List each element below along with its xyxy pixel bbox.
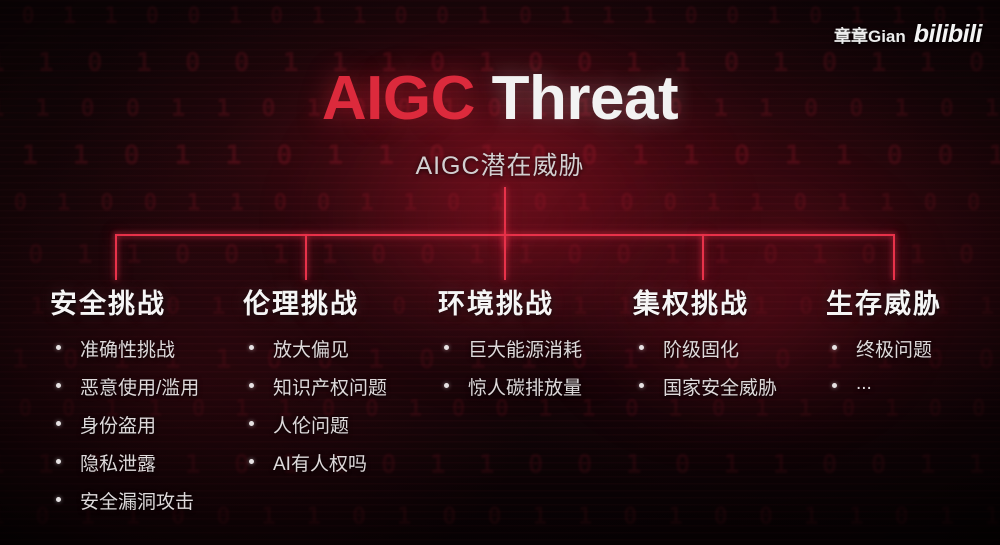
list-item: 准确性挑战 (50, 335, 199, 362)
list-item: 恶意使用/滥用 (50, 373, 199, 400)
list-item: 安全漏洞攻击 (50, 487, 199, 514)
threat-columns: 安全挑战 准确性挑战 恶意使用/滥用 身份盗用 隐私泄露 安全漏洞攻击 伦理挑战… (0, 282, 1000, 522)
connector-stem-vertical (504, 187, 506, 249)
list-item-label: 知识产权问题 (273, 378, 387, 399)
column-item-list: 准确性挑战 恶意使用/滥用 身份盗用 隐私泄露 安全漏洞攻击 (50, 335, 199, 514)
connector-branch-5 (893, 234, 895, 280)
bullet-icon (249, 345, 254, 350)
bullet-icon (639, 383, 644, 388)
page-title-main-text: Threat (492, 64, 678, 133)
bullet-icon (56, 421, 61, 426)
column-heading: 环境挑战 (438, 282, 582, 321)
watermark: 章章Gian bilibili (834, 20, 982, 49)
connector-horizontal-bar (115, 234, 894, 236)
connector-branch-2 (305, 234, 307, 280)
connector-branch-1 (115, 234, 117, 280)
bullet-icon (444, 383, 449, 388)
list-item-label: 安全漏洞攻击 (80, 492, 194, 513)
list-item-label: 恶意使用/滥用 (80, 378, 199, 399)
bullet-icon (56, 497, 61, 502)
bilibili-logo-icon: bilibili (914, 20, 982, 49)
bullet-icon (832, 345, 837, 350)
threat-column-centralization: 集权挑战 阶级固化 国家安全威胁 (633, 282, 777, 411)
column-item-list: 终极问题 ... (826, 335, 942, 395)
binary-row: 1 0 1 0 0 1 1 0 0 1 1 0 1 0 1 0 0 1 1 0 … (0, 190, 1000, 216)
column-heading: 集权挑战 (633, 282, 777, 321)
list-item-label: 阶级固化 (663, 340, 739, 361)
watermark-username: 章章Gian (834, 22, 906, 47)
list-item-label: 身份盗用 (80, 416, 156, 437)
bullet-icon (56, 345, 61, 350)
bullet-icon (249, 383, 254, 388)
bullet-icon (832, 383, 837, 388)
bullet-icon (56, 383, 61, 388)
page-title: AIGC Threat (0, 68, 1000, 130)
list-item-label: 巨大能源消耗 (468, 340, 582, 361)
column-item-list: 阶级固化 国家安全威胁 (633, 335, 777, 400)
list-item: 身份盗用 (50, 411, 199, 438)
list-item: 国家安全威胁 (633, 373, 777, 400)
threat-column-security: 安全挑战 准确性挑战 恶意使用/滥用 身份盗用 隐私泄露 安全漏洞攻击 (50, 282, 199, 525)
list-item: 阶级固化 (633, 335, 777, 362)
list-item: 惊人碳排放量 (438, 373, 582, 400)
column-item-list: 巨大能源消耗 惊人碳排放量 (438, 335, 582, 400)
list-item: 巨大能源消耗 (438, 335, 582, 362)
list-item-label: 终极问题 (856, 340, 932, 361)
threat-column-environment: 环境挑战 巨大能源消耗 惊人碳排放量 (438, 282, 582, 411)
list-item: AI有人权吗 (243, 449, 387, 476)
list-item: ... (826, 373, 942, 395)
column-item-list: 放大偏见 知识产权问题 人伦问题 AI有人权吗 (243, 335, 387, 476)
bullet-icon (249, 421, 254, 426)
page-title-accent: AIGC (322, 64, 475, 133)
list-item-label: 国家安全威胁 (663, 378, 777, 399)
list-item: 知识产权问题 (243, 373, 387, 400)
list-item-label: 准确性挑战 (80, 340, 175, 361)
column-heading: 生存威胁 (826, 282, 942, 321)
connector-branch-3 (504, 234, 506, 280)
list-item-label: 隐私泄露 (80, 454, 156, 475)
list-item-label: AI有人权吗 (273, 454, 367, 475)
bullet-icon (444, 345, 449, 350)
bullet-icon (639, 345, 644, 350)
page-title-main (475, 64, 492, 133)
bullet-icon (56, 459, 61, 464)
page-subtitle: AIGC潜在威胁 (0, 146, 1000, 182)
column-heading: 安全挑战 (50, 282, 199, 321)
threat-column-ethics: 伦理挑战 放大偏见 知识产权问题 人伦问题 AI有人权吗 (243, 282, 387, 487)
list-item: 放大偏见 (243, 335, 387, 362)
bullet-icon (249, 459, 254, 464)
list-item: 隐私泄露 (50, 449, 199, 476)
list-item-label: ... (856, 373, 872, 394)
slide-root: 1 0 1 1 0 0 1 0 1 1 0 0 1 0 1 1 1 0 0 1 … (0, 0, 1000, 545)
list-item-label: 放大偏见 (273, 340, 349, 361)
list-item: 终极问题 (826, 335, 942, 362)
list-item-label: 人伦问题 (273, 416, 349, 437)
connector-branch-4 (702, 234, 704, 280)
binary-row: 0 1 0 1 1 0 0 1 1 0 0 1 1 0 0 1 1 0 1 0 … (0, 240, 1000, 270)
list-item-label: 惊人碳排放量 (468, 378, 582, 399)
list-item: 人伦问题 (243, 411, 387, 438)
threat-column-existential: 生存威胁 终极问题 ... (826, 282, 942, 406)
column-heading: 伦理挑战 (243, 282, 387, 321)
